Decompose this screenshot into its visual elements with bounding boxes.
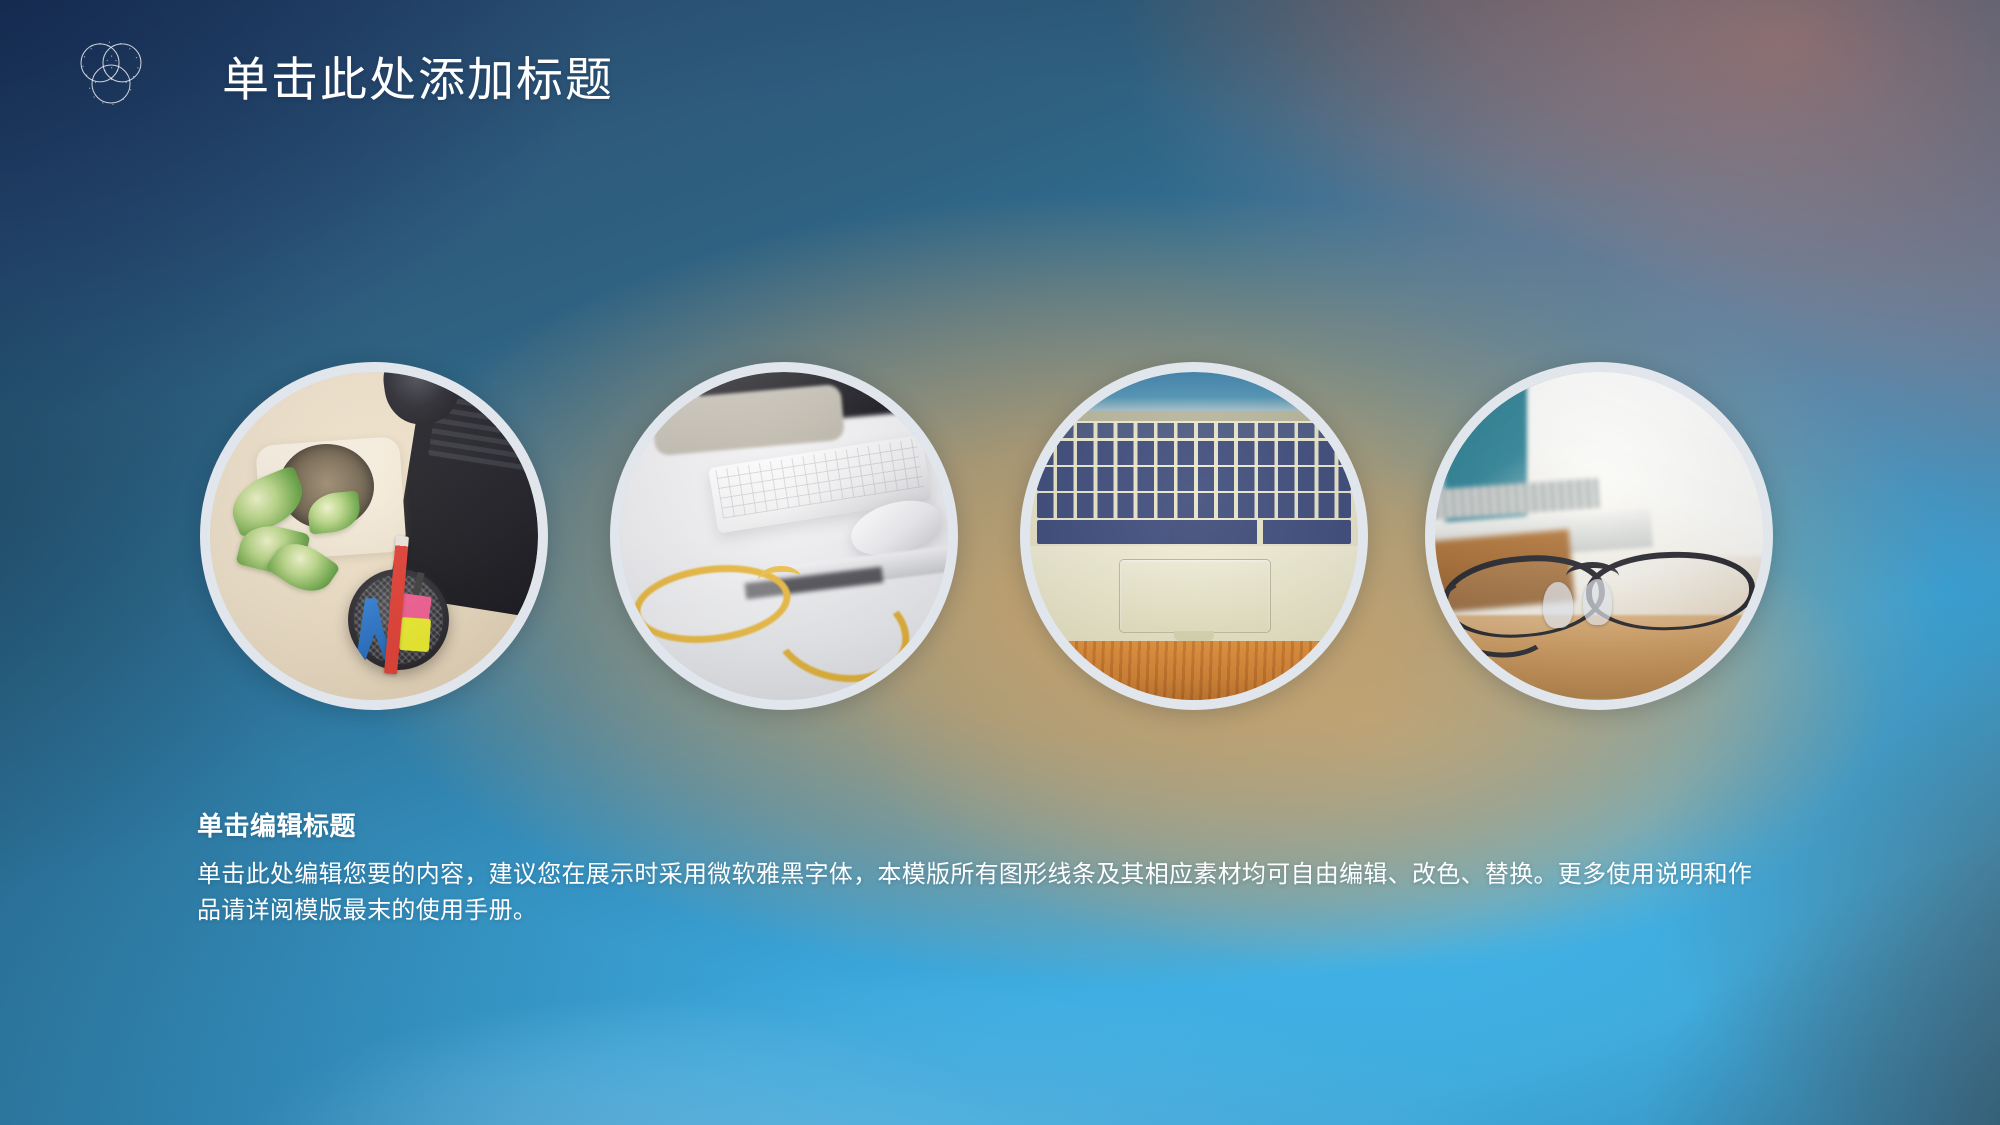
body-paragraph: 单击此处编辑您要的内容，建议您在展示时采用微软雅黑字体，本模版所有图形线条及其相… bbox=[197, 857, 1757, 930]
image-circle-4[interactable] bbox=[1425, 362, 1773, 710]
text-block: 单击编辑标题 单击此处编辑您要的内容，建议您在展示时采用微软雅黑字体，本模版所有… bbox=[197, 806, 1757, 930]
image-circle-row bbox=[0, 0, 2000, 1125]
photo-desk-plant-pencil-cup-icon bbox=[210, 372, 538, 700]
image-circle-1[interactable] bbox=[200, 362, 548, 710]
section-heading: 单击编辑标题 bbox=[197, 806, 1757, 843]
photo-macbook-keyboard-trackpad-icon bbox=[1030, 372, 1358, 700]
image-circle-3[interactable] bbox=[1020, 362, 1368, 710]
photo-glasses-laptop-screen-icon bbox=[1435, 372, 1763, 700]
slide-canvas: 单击此处添加标题 bbox=[0, 0, 2000, 1125]
image-circle-2[interactable] bbox=[610, 362, 958, 710]
photo-keyboard-mouse-glasses-icon bbox=[620, 372, 948, 700]
